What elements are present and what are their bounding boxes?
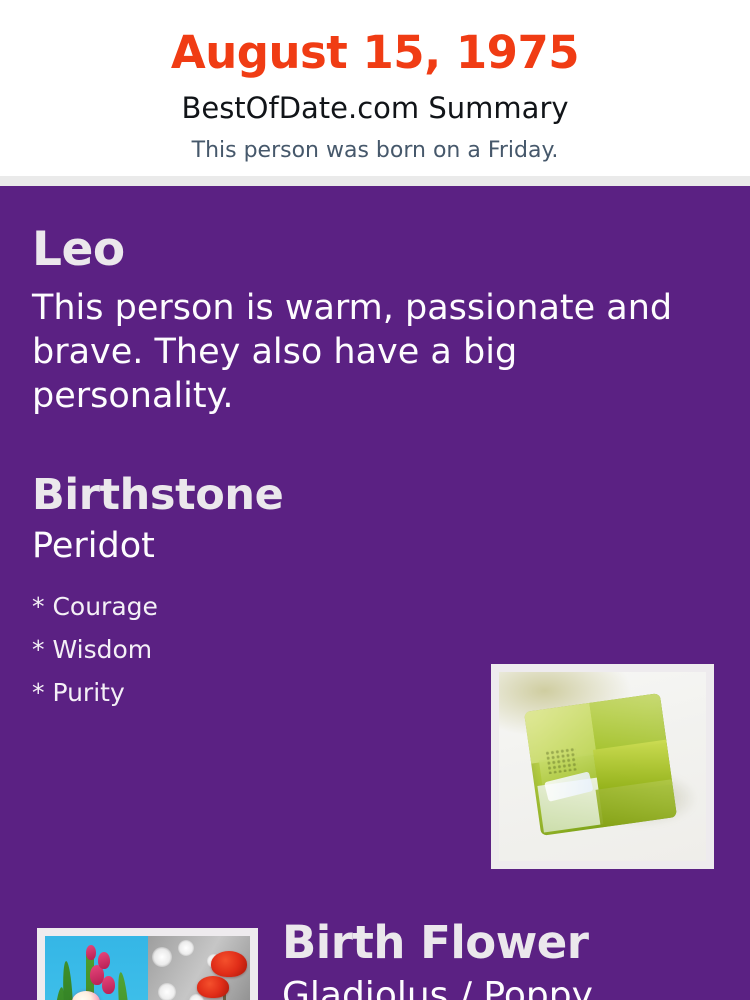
zodiac-section: Leo This person is warm, passionate and … — [32, 226, 692, 418]
list-item: * Purity — [32, 662, 462, 705]
details-panel: Leo This person is warm, passionate and … — [0, 186, 750, 1000]
summary-card: August 15, 1975 BestOfDate.com Summary T… — [0, 0, 750, 1000]
birthstone-heading: Birthstone — [32, 474, 462, 517]
card-header: August 15, 1975 BestOfDate.com Summary T… — [0, 0, 750, 176]
birthstone-trait-list: * Courage * Wisdom * Purity — [32, 564, 462, 705]
poppy-photo-half — [148, 936, 251, 1000]
zodiac-sign-name: Leo — [32, 226, 692, 273]
site-summary-label: BestOfDate.com Summary — [0, 75, 750, 123]
peridot-gemstone-photo — [499, 672, 706, 861]
page-title: August 15, 1975 — [0, 0, 750, 75]
birth-flower-section: Birth Flower Gladiolus / Poppy * Strengt… — [282, 920, 722, 1000]
birth-flower-image-frame — [37, 928, 258, 1000]
birth-flower-heading: Birth Flower — [282, 920, 722, 965]
list-item: * Courage — [32, 576, 462, 619]
born-day-statement: This person was born on a Friday. — [0, 123, 750, 162]
list-item: * Wisdom — [32, 619, 462, 662]
gladiolus-and-poppy-photo — [45, 936, 250, 1000]
gladiolus-photo-half — [45, 936, 148, 1000]
header-divider — [0, 176, 750, 186]
birthstone-name: Peridot — [32, 517, 462, 564]
peridot-crystal-icon — [524, 693, 677, 836]
birthstone-section: Birthstone Peridot * Courage * Wisdom * … — [32, 474, 462, 705]
birthstone-image-frame — [491, 664, 714, 869]
zodiac-description: This person is warm, passionate and brav… — [32, 273, 682, 418]
birth-flower-name: Gladiolus / Poppy — [282, 965, 722, 1000]
